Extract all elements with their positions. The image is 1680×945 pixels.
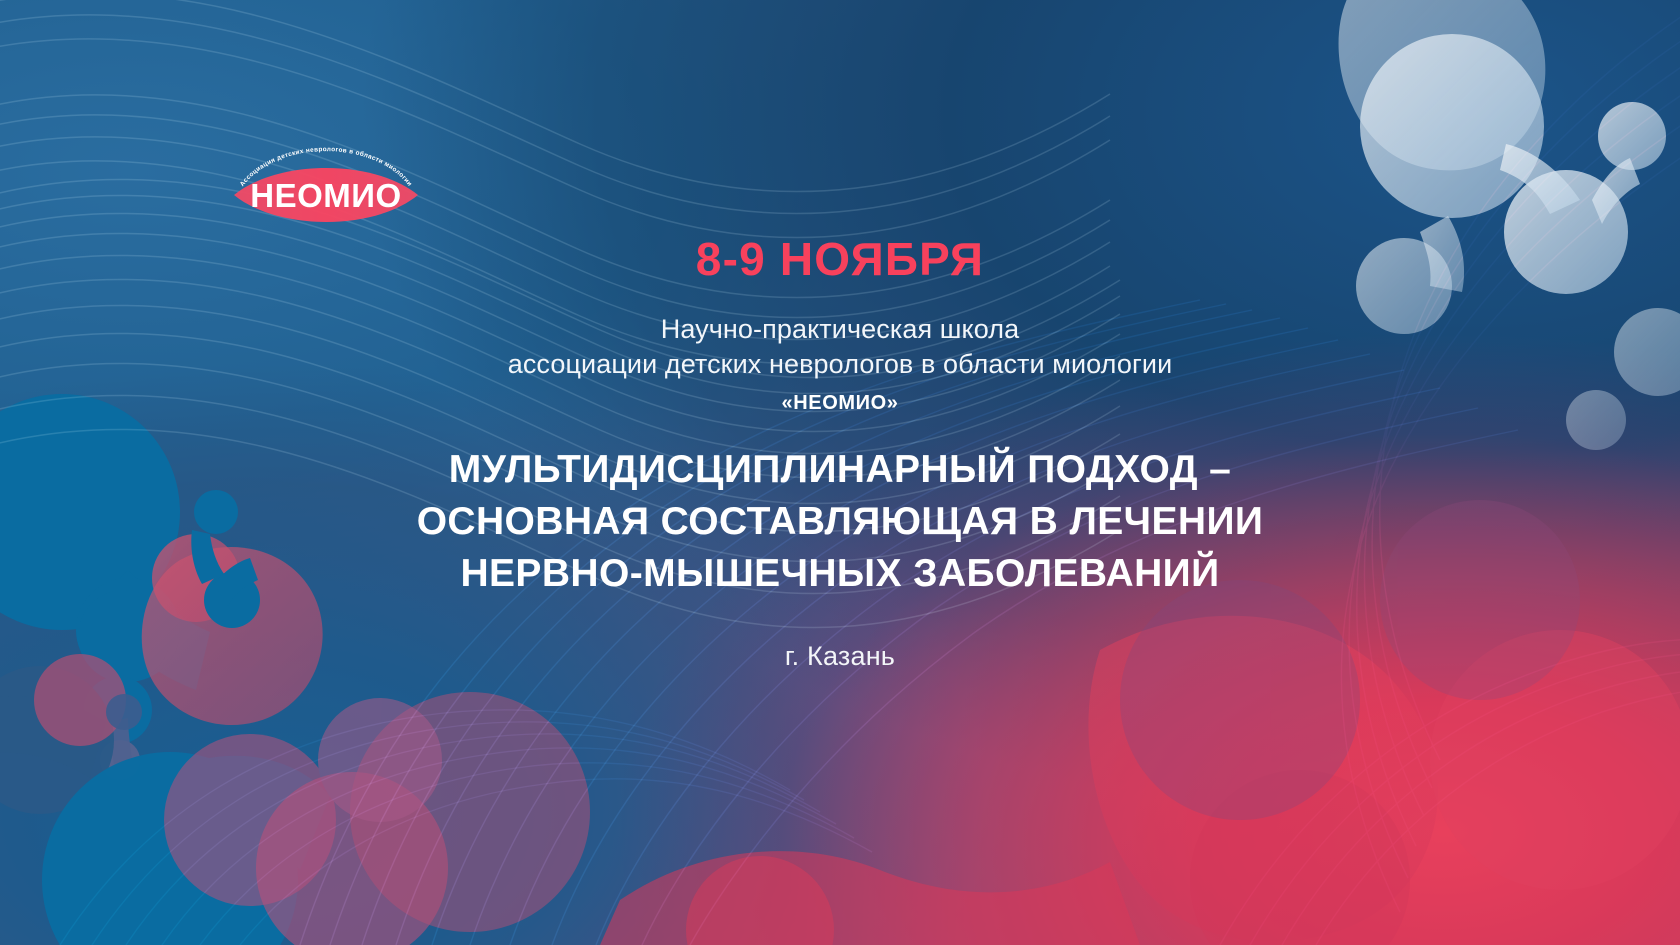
event-date: 8-9 НОЯБРЯ bbox=[0, 236, 1680, 282]
title-line-3: НЕРВНО-МЫШЕЧНЫХ ЗАБОЛЕВАНИЙ bbox=[0, 548, 1680, 600]
title-line-1: МУЛЬТИДИСЦИПЛИНАРНЫЙ ПОДХОД – bbox=[0, 444, 1680, 496]
logo-artwork: Ассоциация детских неврологов в области … bbox=[228, 133, 424, 223]
conference-poster: Ассоциация детских неврологов в области … bbox=[0, 0, 1680, 945]
neomio-logo[interactable]: Ассоциация детских неврологов в области … bbox=[228, 133, 424, 223]
poster-text-block: 8-9 НОЯБРЯ Научно-практическая школа асс… bbox=[0, 236, 1680, 672]
logo-wordmark: НЕОМИО bbox=[250, 177, 401, 214]
event-city: г. Казань bbox=[0, 641, 1680, 672]
organization-name: «НЕОМИО» bbox=[0, 390, 1680, 416]
subtitle-line-1: Научно-практическая школа bbox=[0, 312, 1680, 347]
event-title: МУЛЬТИДИСЦИПЛИНАРНЫЙ ПОДХОД – ОСНОВНАЯ С… bbox=[0, 444, 1680, 600]
title-line-2: ОСНОВНАЯ СОСТАВЛЯЮЩАЯ В ЛЕЧЕНИИ bbox=[0, 496, 1680, 548]
subtitle-line-2: ассоциации детских неврологов в области … bbox=[0, 347, 1680, 382]
